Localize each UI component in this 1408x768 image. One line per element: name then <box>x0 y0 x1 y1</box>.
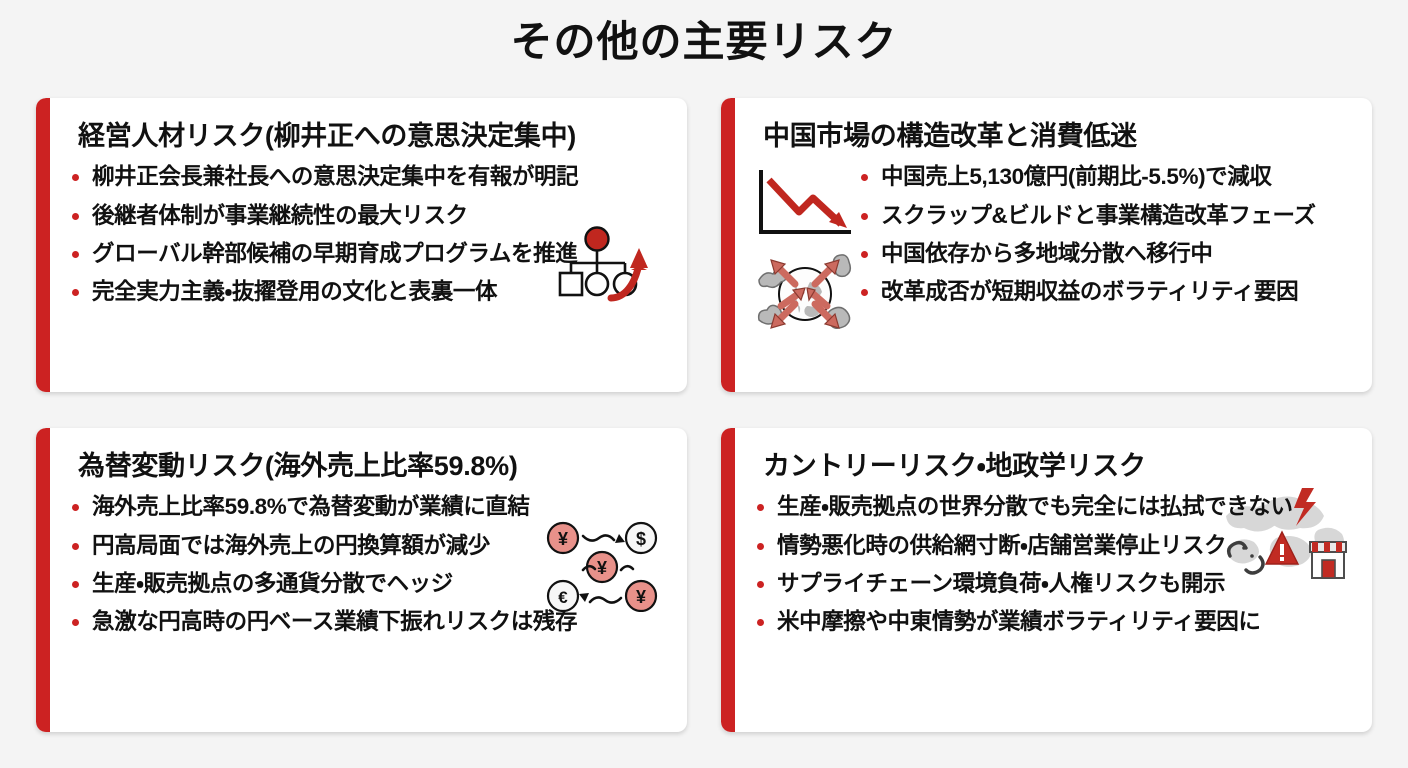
risk-card-management-talent[interactable]: 経営人材リスク(柳井正への意思決定集中) 柳井正会長兼社長への意思決定集中を有報… <box>36 98 687 392</box>
risk-card-country-geopolitical[interactable]: カントリーリスク・地政学リスク <box>721 428 1372 732</box>
card-accent-bar <box>721 98 735 392</box>
list-item: 中国売上5,130億円(前期比-5.5%)で減収 <box>859 162 1356 191</box>
card-body: 中国売上5,130億円(前期比-5.5%)で減収 スクラップ&ビルドと事業構造改… <box>755 162 1356 338</box>
card-accent-bar <box>36 428 50 732</box>
globe-diversification-icon <box>755 248 855 338</box>
icon-column <box>755 162 859 338</box>
list-item: 生産・販売拠点の多通貨分散でヘッジ <box>70 569 671 598</box>
risk-overview-slide: その他の主要リスク 経営人材リスク(柳井正への意思決定集中) 柳井正会長兼社長へ… <box>0 0 1408 768</box>
list-item: サプライチェーン環境負荷・人権リスクも開示 <box>755 569 1356 598</box>
list-item: 海外売上比率59.8%で為替変動が業績に直結 <box>70 492 671 521</box>
card-title: 経営人材リスク(柳井正への意思決定集中) <box>78 120 671 152</box>
list-item: 改革成否が短期収益のボラティリティ要因 <box>859 277 1356 306</box>
list-item: 完全実力主義・抜擢登用の文化と表裏一体 <box>70 277 671 306</box>
list-item: 情勢悪化時の供給網寸断・店舗営業停止リスク <box>755 531 1356 560</box>
risk-card-china-market[interactable]: 中国市場の構造改革と消費低迷 <box>721 98 1372 392</box>
page-title: その他の主要リスク <box>0 18 1408 66</box>
list-item: 円高局面では海外売上の円換算額が減少 <box>70 531 671 560</box>
card-body: 生産・販売拠点の世界分散でも完全には払拭できない 情勢悪化時の供給網寸断・店舗営… <box>755 492 1356 636</box>
card-body: 柳井正会長兼社長への意思決定集中を有報が明記 後継者体制が事業継続性の最大リスク… <box>70 162 671 306</box>
risk-card-fx-volatility[interactable]: 為替変動リスク(海外売上比率59.8%) 海外売上比率59.8%で為替変動が業績… <box>36 428 687 732</box>
card-accent-bar <box>36 98 50 392</box>
list-item: 中国依存から多地域分散へ移行中 <box>859 239 1356 268</box>
list-item: 後継者体制が事業継続性の最大リスク <box>70 201 671 230</box>
bullet-list: 海外売上比率59.8%で為替変動が業績に直結 円高局面では海外売上の円換算額が減… <box>70 492 671 636</box>
list-item: 生産・販売拠点の世界分散でも完全には払拭できない <box>755 492 1356 521</box>
list-item: グローバル幹部候補の早期育成プログラムを推進 <box>70 239 671 268</box>
card-accent-bar <box>721 428 735 732</box>
list-item: 柳井正会長兼社長への意思決定集中を有報が明記 <box>70 162 671 191</box>
list-item: 米中摩擦や中東情勢が業績ボラティリティ要因に <box>755 607 1356 636</box>
card-title: 中国市場の構造改革と消費低迷 <box>763 120 1356 152</box>
risk-card-grid: 経営人材リスク(柳井正への意思決定集中) 柳井正会長兼社長への意思決定集中を有報… <box>36 98 1372 734</box>
list-item: 急激な円高時の円ベース業績下振れリスクは残存 <box>70 607 671 636</box>
card-title: 為替変動リスク(海外売上比率59.8%) <box>78 450 671 482</box>
bullet-list: 生産・販売拠点の世界分散でも完全には払拭できない 情勢悪化時の供給網寸断・店舗営… <box>755 492 1356 636</box>
card-title: カントリーリスク・地政学リスク <box>763 450 1356 482</box>
list-item: スクラップ&ビルドと事業構造改革フェーズ <box>859 201 1356 230</box>
card-body: 海外売上比率59.8%で為替変動が業績に直結 円高局面では海外売上の円換算額が減… <box>70 492 671 636</box>
declining-trend-chart-icon <box>755 166 855 240</box>
bullet-list: 中国売上5,130億円(前期比-5.5%)で減収 スクラップ&ビルドと事業構造改… <box>859 162 1356 306</box>
bullet-list: 柳井正会長兼社長への意思決定集中を有報が明記 後継者体制が事業継続性の最大リスク… <box>70 162 671 306</box>
